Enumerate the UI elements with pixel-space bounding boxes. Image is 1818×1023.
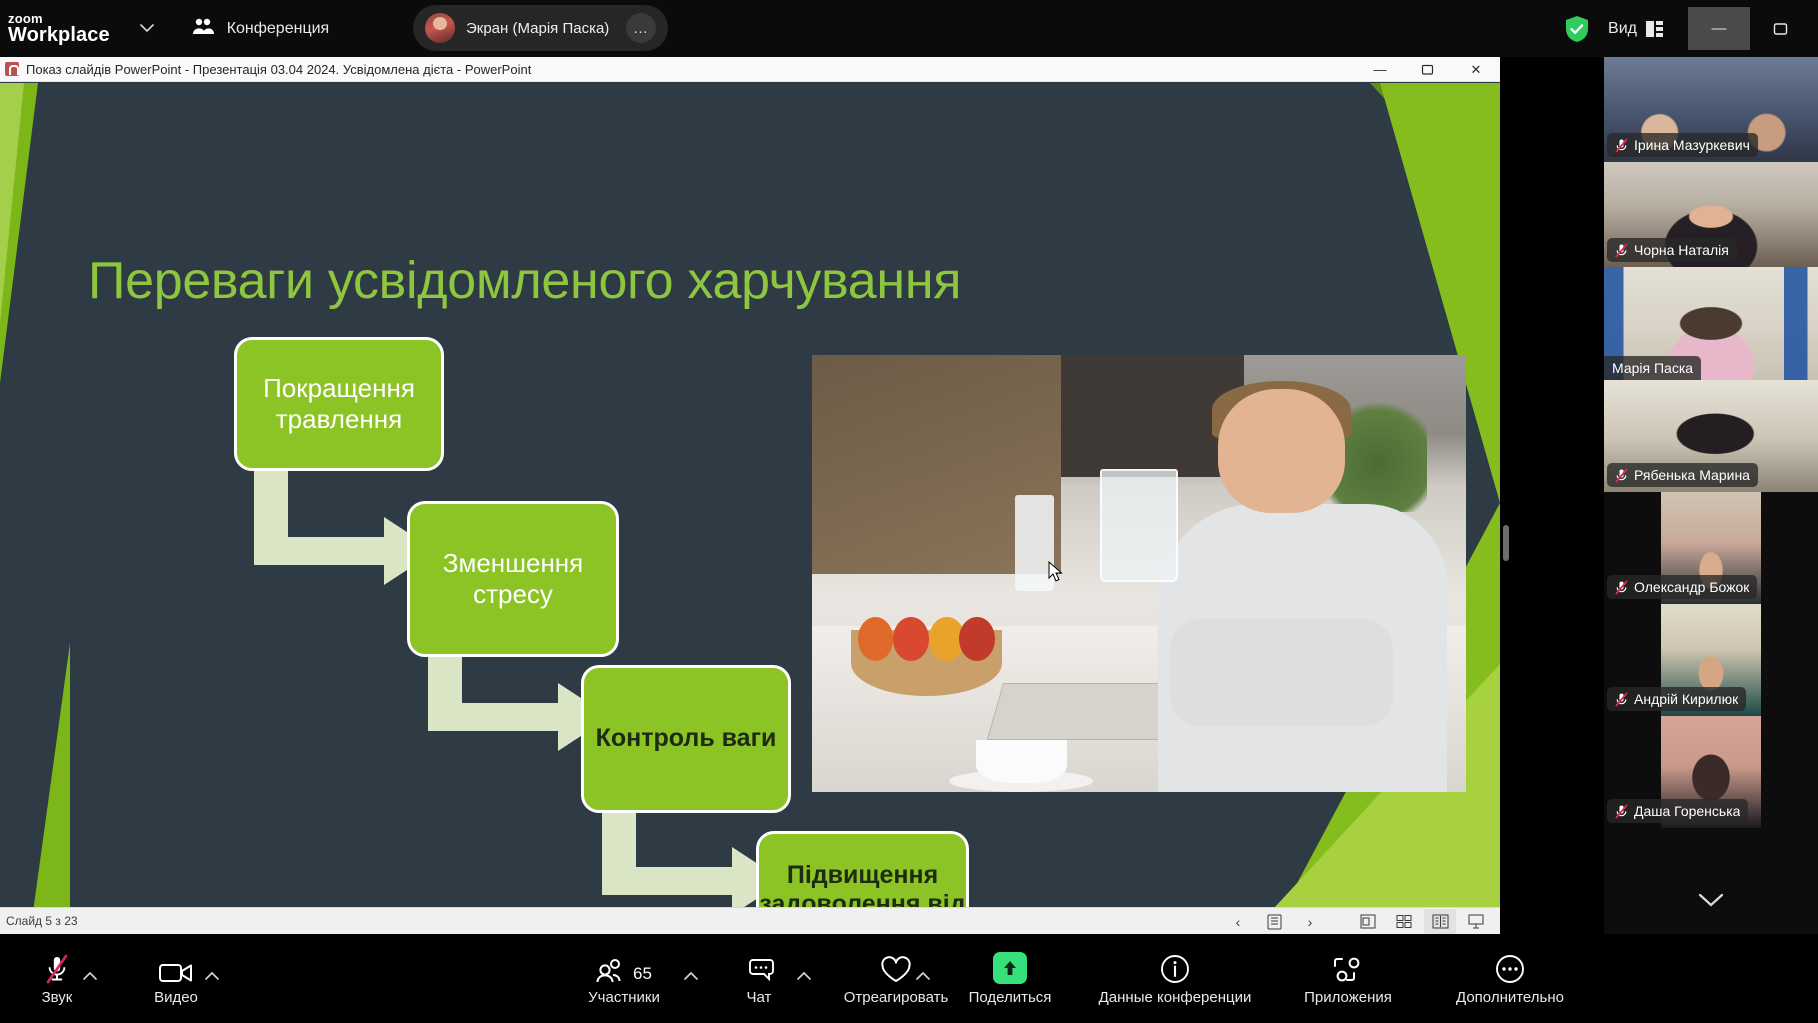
panel-divider-handle[interactable] — [1503, 525, 1509, 561]
participant-name: Ірина Мазуркевич — [1634, 137, 1750, 153]
participant-name-badge: Андрій Кирилюк — [1607, 687, 1746, 711]
chat-options-caret[interactable] — [796, 970, 812, 984]
zoom-logo-line2: Workplace — [8, 25, 110, 45]
microphone-muted-icon — [1615, 138, 1628, 153]
participant-name: Рябенька Марина — [1634, 467, 1750, 483]
meeting-tab[interactable]: Конференция — [192, 17, 330, 40]
participant-name: Олександр Божок — [1634, 579, 1749, 595]
powerpoint-window-controls: — ✕ — [1356, 57, 1500, 82]
screen-share-pill[interactable]: Экран (Марія Паска) … — [413, 5, 668, 51]
apps-button[interactable]: Приложения — [1272, 934, 1424, 1023]
powerpoint-view-controls: ‹ › — [1222, 908, 1492, 935]
view-button-label: Вид — [1608, 20, 1637, 38]
slide-counter: Слайд 5 з 23 — [6, 914, 78, 928]
meeting-info-label: Данные конференции — [1099, 989, 1252, 1006]
participant-name: Марія Паска — [1612, 360, 1693, 376]
notes-icon[interactable] — [1258, 909, 1290, 934]
chat-button[interactable]: Чат — [728, 934, 790, 1023]
participant-name-badge: Олександр Божок — [1607, 575, 1757, 599]
reading-view-icon[interactable] — [1424, 909, 1456, 934]
slide-decor-left — [0, 83, 70, 934]
participant-tile-1[interactable]: Чорна Наталія — [1604, 162, 1818, 267]
chat-label: Чат — [747, 989, 772, 1006]
previous-slide-button[interactable]: ‹ — [1222, 909, 1254, 934]
participant-video-strip[interactable]: Ірина Мазуркевич Чорна Наталія Марія Пас… — [1604, 57, 1818, 934]
participant-name-badge: Чорна Наталія — [1607, 238, 1737, 262]
microphone-muted-icon — [1615, 468, 1628, 483]
slide-box-3: Контроль ваги — [581, 665, 791, 813]
top-right-controls: Вид — — [1564, 0, 1818, 57]
participants-options-caret[interactable] — [683, 970, 699, 984]
participant-name: Чорна Наталія — [1634, 242, 1729, 258]
powerpoint-close-button[interactable]: ✕ — [1452, 57, 1500, 82]
scroll-down-button[interactable] — [1604, 880, 1818, 920]
powerpoint-restore-button[interactable] — [1404, 57, 1452, 82]
participants-icon: 65 — [596, 952, 652, 984]
microphone-muted-icon — [1615, 243, 1628, 258]
zoom-top-bar: zoom Workplace Конференция Экран (Марія … — [0, 0, 1818, 57]
participant-name-badge: Марія Паска — [1604, 356, 1701, 380]
participant-tile-5[interactable]: Андрій Кирилюк — [1604, 604, 1818, 716]
zoom-bottom-toolbar: Звук Видео — [0, 934, 1818, 1023]
react-options-caret[interactable] — [915, 970, 931, 984]
participant-name: Даша Горенська — [1634, 803, 1740, 819]
share-label: Поделиться — [969, 989, 1052, 1006]
powerpoint-title-bar[interactable]: Показ слайдів PowerPoint - Презентація 0… — [0, 57, 1500, 82]
view-button[interactable]: Вид — [1608, 20, 1664, 38]
share-screen-button[interactable]: Поделиться — [955, 934, 1065, 1023]
more-ellipsis-icon — [1495, 952, 1525, 984]
react-button[interactable]: Отреагировать — [820, 934, 972, 1023]
slide-photo — [812, 355, 1466, 792]
zoom-logo-line1: zoom — [8, 12, 110, 25]
slide-box-1: Покращення травлення — [234, 337, 444, 471]
video-options-caret[interactable] — [204, 970, 220, 984]
audio-label: Звук — [42, 989, 73, 1006]
video-camera-icon — [159, 952, 193, 984]
window-maximize-button[interactable] — [1750, 7, 1812, 50]
more-label: Дополнительно — [1456, 989, 1564, 1006]
participant-name-badge: Ірина Мазуркевич — [1607, 133, 1758, 157]
microphone-muted-icon — [1615, 692, 1628, 707]
slide-title: Переваги усвідомленого харчування — [88, 251, 1188, 311]
participant-tile-3[interactable]: Рябенька Марина — [1604, 380, 1818, 492]
powerpoint-window: Показ слайдів PowerPoint - Презентація 0… — [0, 57, 1500, 934]
chat-bubble-icon — [744, 952, 774, 984]
normal-view-icon[interactable] — [1352, 909, 1384, 934]
info-icon — [1160, 952, 1190, 984]
powerpoint-app-icon — [5, 62, 19, 76]
powerpoint-window-title: Показ слайдів PowerPoint - Презентація 0… — [26, 62, 531, 77]
encryption-shield-icon[interactable] — [1564, 15, 1590, 43]
participant-name-badge: Даша Горенська — [1607, 799, 1748, 823]
participant-tile-6[interactable]: Даша Горенська — [1604, 716, 1818, 828]
layout-view-icon — [1646, 21, 1664, 37]
microphone-muted-icon — [1615, 804, 1628, 819]
apps-icon — [1332, 952, 1364, 984]
zoom-meeting-screen: zoom Workplace Конференция Экран (Марія … — [0, 0, 1818, 1023]
video-label: Видео — [154, 989, 198, 1006]
avatar — [425, 13, 455, 43]
more-button[interactable]: Дополнительно — [1420, 934, 1600, 1023]
meeting-tab-label: Конференция — [227, 20, 330, 38]
window-minimize-button[interactable]: — — [1688, 7, 1750, 50]
heart-icon — [880, 952, 912, 984]
slide-decor-left-light — [0, 83, 46, 934]
participant-tile-2[interactable]: Марія Паска — [1604, 267, 1818, 380]
participants-label: Участники — [588, 989, 660, 1006]
more-options-icon[interactable]: … — [626, 13, 656, 43]
slide-canvas[interactable]: Переваги усвідомленого харчування Покращ… — [0, 83, 1500, 934]
participants-count: 65 — [633, 964, 652, 984]
chevron-down-icon[interactable] — [132, 14, 162, 44]
participant-name: Андрій Кирилюк — [1634, 691, 1738, 707]
next-slide-button[interactable]: › — [1294, 909, 1326, 934]
mouse-cursor — [1048, 561, 1064, 583]
screen-share-label: Экран (Марія Паска) — [466, 20, 609, 37]
meeting-info-button[interactable]: Данные конференции — [1075, 934, 1275, 1023]
react-label: Отреагировать — [844, 989, 949, 1006]
powerpoint-status-bar: Слайд 5 з 23 ‹ › — [0, 907, 1500, 934]
microphone-muted-icon — [44, 952, 70, 984]
slide-sorter-icon[interactable] — [1388, 909, 1420, 934]
participants-group-icon — [192, 17, 215, 40]
participant-tile-4[interactable]: Олександр Божок — [1604, 492, 1818, 604]
apps-label: Приложения — [1304, 989, 1392, 1006]
slide-box-2: Зменшення стресу — [407, 501, 619, 657]
zoom-workplace-logo: zoom Workplace — [8, 12, 110, 46]
share-screen-icon — [993, 952, 1027, 984]
participant-name-badge: Рябенька Марина — [1607, 463, 1758, 487]
participants-button[interactable]: 65 Участники — [572, 934, 676, 1023]
microphone-muted-icon — [1615, 580, 1628, 595]
audio-options-caret[interactable] — [82, 970, 98, 984]
presenter-view-icon[interactable] — [1460, 909, 1492, 934]
participant-tile-0[interactable]: Ірина Мазуркевич — [1604, 57, 1818, 162]
powerpoint-minimize-button[interactable]: — — [1356, 57, 1404, 82]
